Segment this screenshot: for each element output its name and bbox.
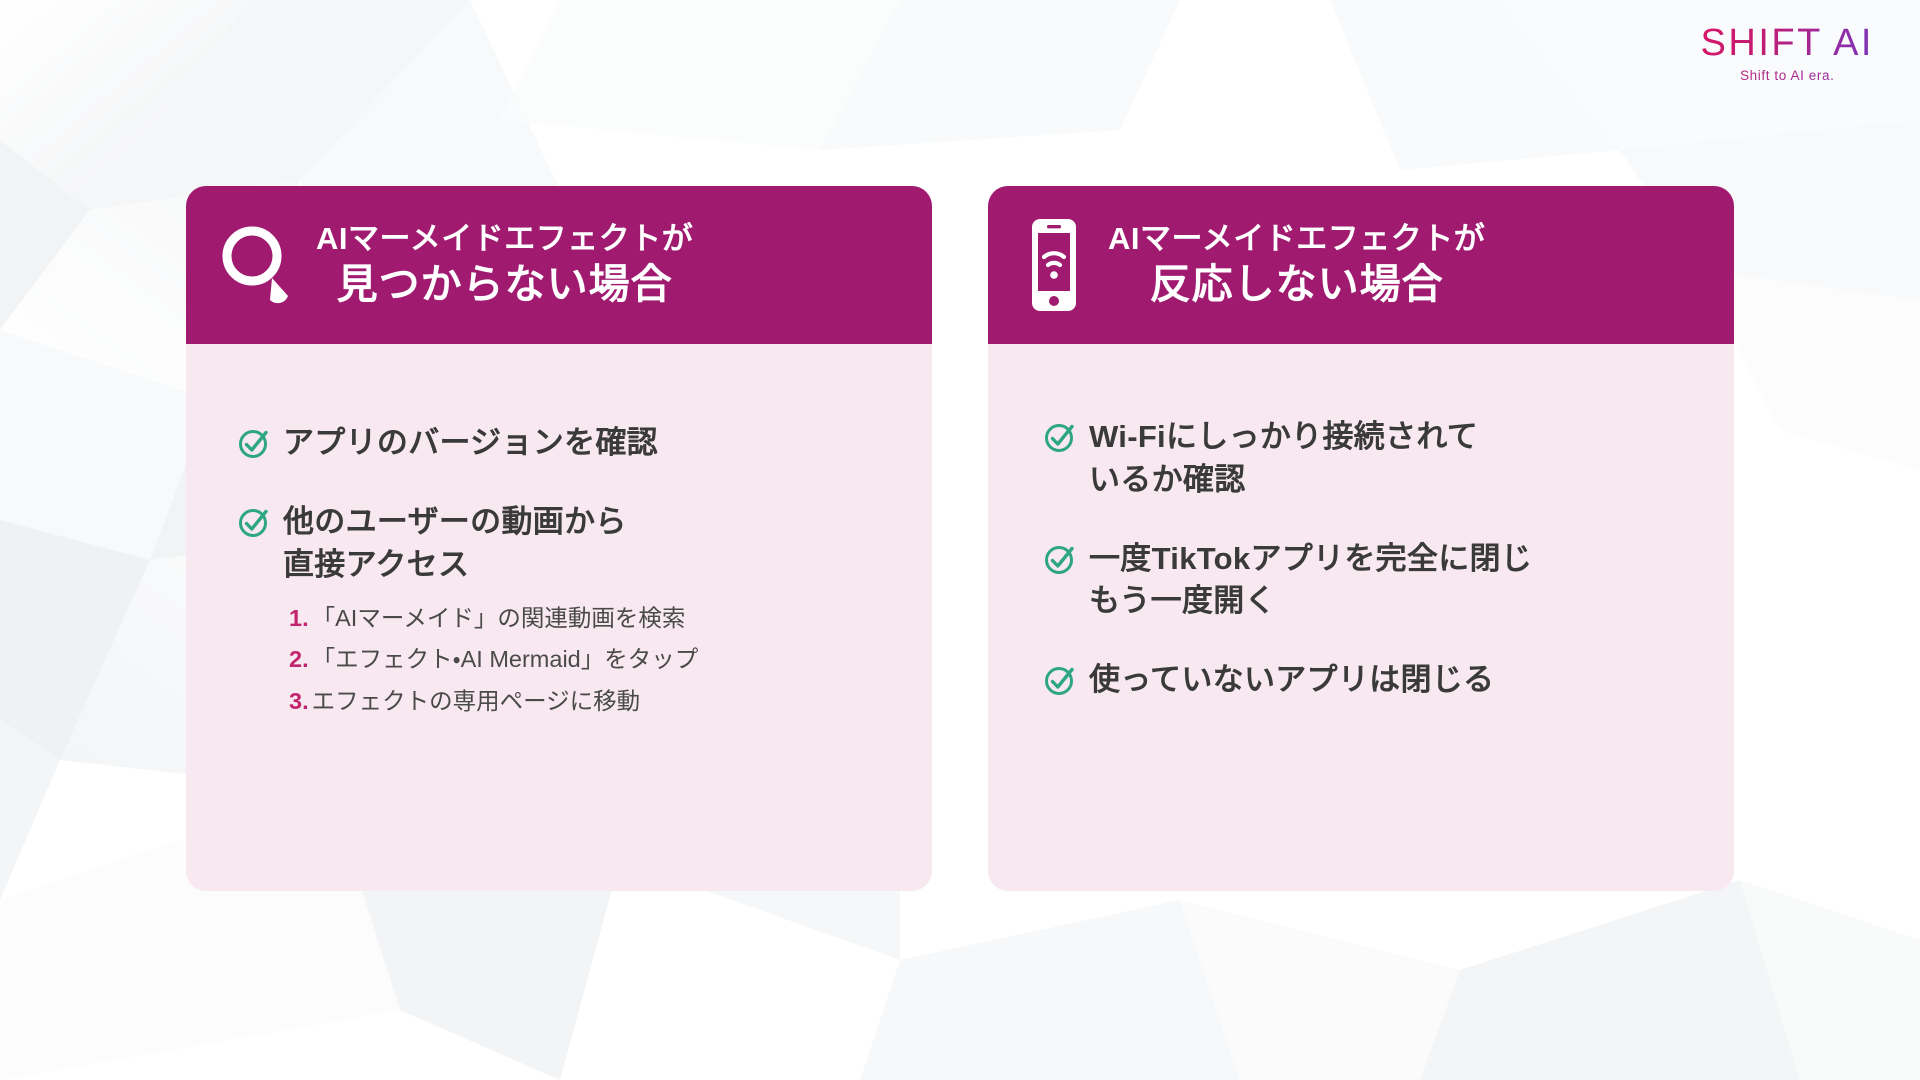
header-line-2: 反応しない場合 — [1108, 260, 1485, 309]
cards-row: AIマーメイドエフェクトが 見つからない場合 アプリのバージョンを確認 — [186, 186, 1735, 891]
header-line-1: AIマーメイドエフェクトが — [316, 221, 693, 258]
check-circle-icon — [1044, 664, 1076, 701]
list-item: 一度TikTokアプリを完全に閉じ もう一度開く — [1044, 538, 1700, 624]
header-line-2: 見つからない場合 — [316, 260, 693, 309]
list-item-text: 一度TikTokアプリを完全に閉じ もう一度開く — [1089, 538, 1532, 624]
sub-list-text: エフェクトの専用ページに移動 — [312, 681, 641, 722]
card-not-responding-header: AIマーメイドエフェクトが 反応しない場合 — [988, 186, 1734, 344]
list-item-text: Wi-Fiにしっかり接続されて いるか確認 — [1089, 416, 1478, 502]
list-item: アプリのバージョンを確認 — [238, 422, 898, 465]
check-circle-icon — [238, 506, 270, 543]
list-item-line: Wi-Fiにしっかり接続されて — [1089, 416, 1478, 459]
card-not-responding-title: AIマーメイドエフェクトが 反応しない場合 — [1108, 221, 1485, 309]
sub-list-text: 「エフェクト・AI Mermaid」をタップ — [312, 639, 699, 680]
sub-list-number: 1. — [289, 598, 309, 639]
shift-ai-logo: SHIFT AI Shift to AI era. — [1701, 24, 1874, 83]
smartphone-wifi-icon — [1022, 217, 1086, 313]
header-line-1: AIマーメイドエフェクトが — [1108, 221, 1485, 258]
card-not-found-title: AIマーメイドエフェクトが 見つからない場合 — [316, 221, 693, 309]
sub-list-number: 2. — [289, 639, 309, 680]
sub-list-item: 3. エフェクトの専用ページに移動 — [289, 681, 698, 722]
list-item-block: 他のユーザーの動画から 直接アクセス 1. 「AIマーメイド」の関連動画を検索 … — [283, 501, 698, 722]
list-item-line: もう一度開く — [1089, 580, 1532, 623]
list-item-line: 使っていないアプリは閉じる — [1089, 659, 1494, 702]
sub-list-number: 3. — [289, 681, 309, 722]
list-item-line: いるか確認 — [1089, 459, 1478, 502]
card-not-found-header: AIマーメイドエフェクトが 見つからない場合 — [186, 186, 932, 344]
list-item-text: 使っていないアプリは閉じる — [1089, 659, 1494, 702]
list-item-line: アプリのバージョンを確認 — [283, 422, 658, 465]
sub-list-item: 2. 「エフェクト・AI Mermaid」をタップ — [289, 639, 698, 680]
list-item: 他のユーザーの動画から 直接アクセス 1. 「AIマーメイド」の関連動画を検索 … — [238, 501, 898, 722]
card-not-found: AIマーメイドエフェクトが 見つからない場合 アプリのバージョンを確認 — [186, 186, 932, 891]
list-item: Wi-Fiにしっかり接続されて いるか確認 — [1044, 416, 1700, 502]
list-item-text: アプリのバージョンを確認 — [283, 422, 658, 465]
card-not-responding: AIマーメイドエフェクトが 反応しない場合 Wi-Fiにしっかり接続されて いる… — [988, 186, 1734, 891]
sub-list-item: 1. 「AIマーメイド」の関連動画を検索 — [289, 598, 698, 639]
list-item-line: 一度TikTokアプリを完全に閉じ — [1089, 538, 1532, 581]
list-item-line: 他のユーザーの動画から — [283, 501, 698, 544]
magnifier-icon — [220, 222, 294, 308]
list-item-text: 他のユーザーの動画から 直接アクセス — [283, 501, 698, 587]
card-not-responding-body: Wi-Fiにしっかり接続されて いるか確認 一度TikTokアプリを完全に閉じ … — [988, 344, 1734, 891]
list-item-line: 直接アクセス — [283, 544, 698, 587]
numbered-sub-list: 1. 「AIマーメイド」の関連動画を検索 2. 「エフェクト・AI Mermai… — [289, 598, 698, 721]
slide-canvas: SHIFT AI Shift to AI era. AIマーメイドエフェクトが … — [0, 0, 1920, 1080]
card-not-found-body: アプリのバージョンを確認 他のユーザーの動画から 直接アクセス — [186, 344, 932, 891]
logo-tagline: Shift to AI era. — [1701, 69, 1874, 83]
logo-wordmark: SHIFT AI — [1701, 24, 1874, 62]
check-circle-icon — [1044, 543, 1076, 580]
check-circle-icon — [1044, 421, 1076, 458]
check-circle-icon — [238, 427, 270, 464]
list-item: 使っていないアプリは閉じる — [1044, 659, 1700, 702]
sub-list-text: 「AIマーメイド」の関連動画を検索 — [312, 598, 686, 639]
